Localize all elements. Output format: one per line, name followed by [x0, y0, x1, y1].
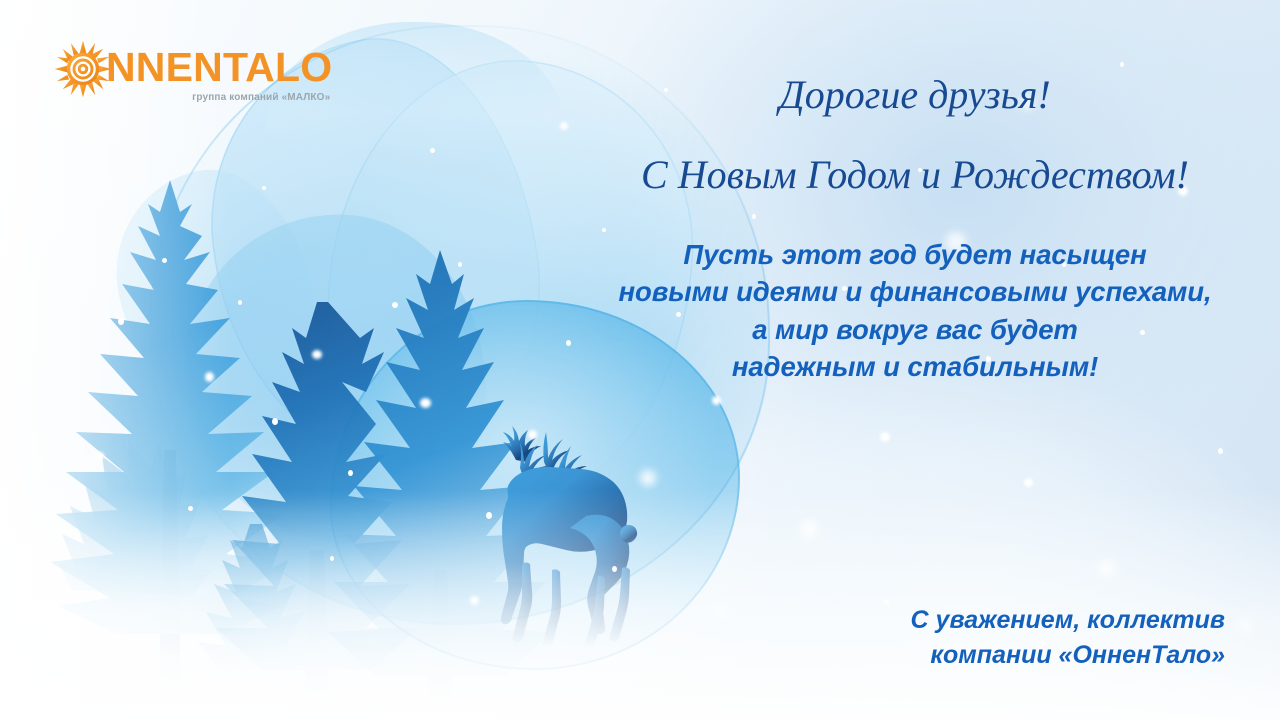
sun-burst-icon: [54, 40, 112, 98]
greeting-card: NNENTALO группа компаний «МАЛКО» Дорогие…: [0, 0, 1280, 720]
wish-line-2: новыми идеями и финансовыми успехами,: [605, 273, 1225, 310]
signature-line-1: С уважением, коллектив: [705, 603, 1225, 638]
left-haze: [0, 0, 230, 720]
signature-block: С уважением, коллектив компании «ОнненТа…: [705, 603, 1225, 672]
wish-line-4: надежным и стабильным!: [605, 348, 1225, 385]
logo-wordmark: NNENTALO: [106, 38, 332, 88]
wish-text: Пусть этот год будет насыщен новыми идея…: [605, 236, 1225, 386]
company-logo[interactable]: NNENTALO группа компаний «МАЛКО»: [54, 38, 332, 103]
greeting-message: Дорогие друзья! С Новым Годом и Рождеств…: [605, 74, 1225, 386]
logo-tagline: группа компаний «МАЛКО»: [192, 92, 330, 103]
wish-line-3: а мир вокруг вас будет: [605, 311, 1225, 348]
signature-line-2: компании «ОнненТало»: [705, 638, 1225, 673]
greeting-line-1: Дорогие друзья!: [605, 74, 1225, 116]
wish-line-1: Пусть этот год будет насыщен: [605, 236, 1225, 273]
greeting-line-2: С Новым Годом и Рождеством!: [605, 154, 1225, 196]
